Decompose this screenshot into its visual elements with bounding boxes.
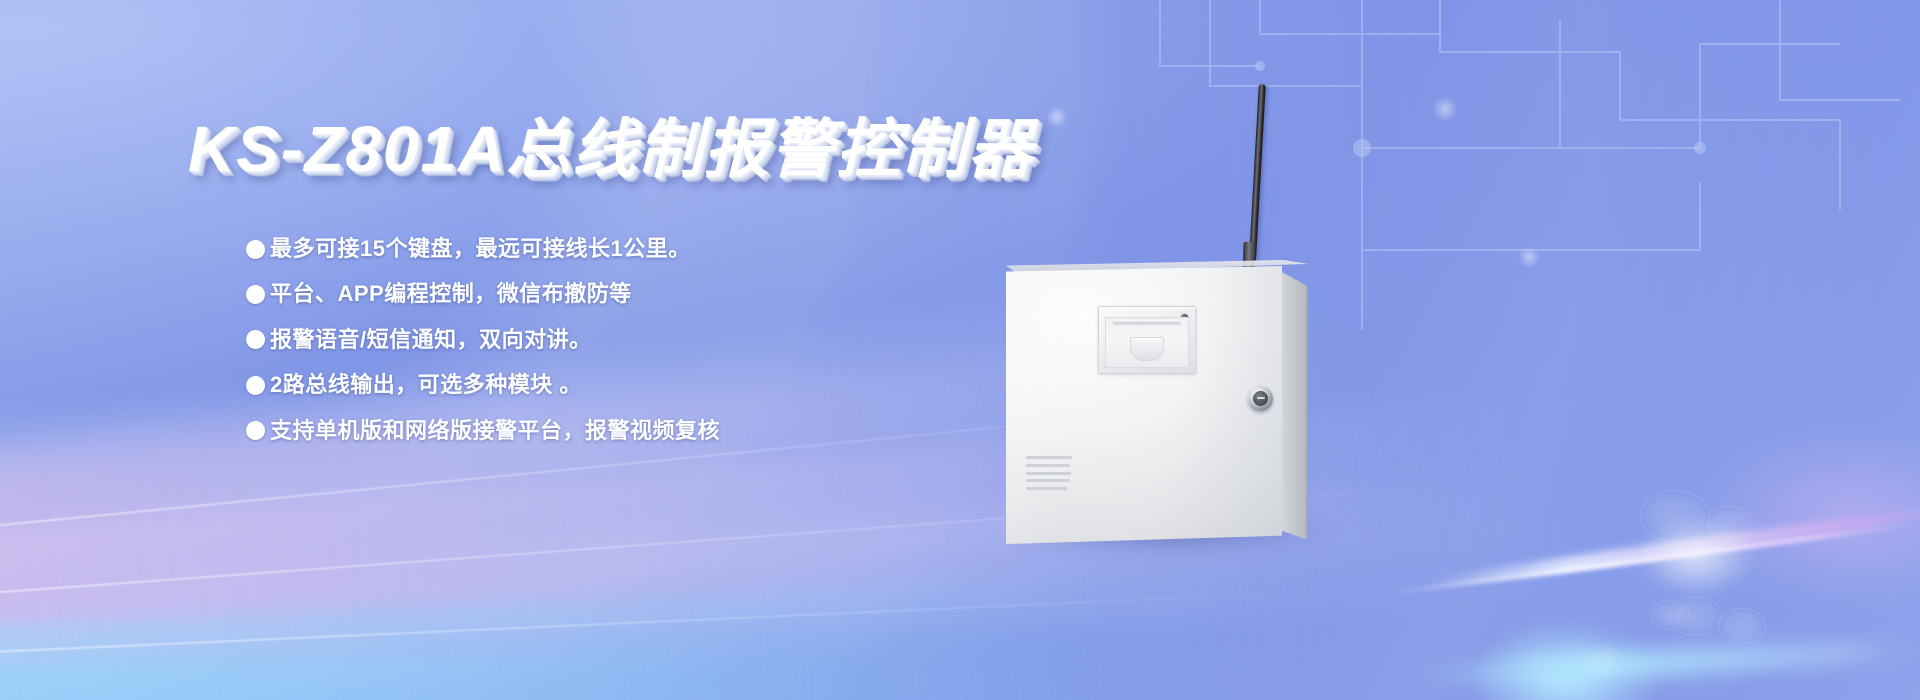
feature-item: 平台、APP编程控制，微信布撤防等	[246, 281, 1006, 307]
feature-list: 最多可接15个键盘，最远可接线长1公里。 平台、APP编程控制，微信布撤防等 报…	[246, 236, 1006, 463]
bullet-dot-icon	[246, 330, 265, 349]
feature-text: 支持单机版和网络版接警平台，报警视频复核	[270, 418, 720, 444]
flare-glow-violet	[1690, 420, 1920, 610]
background-ribbon-6	[0, 639, 1101, 700]
background-glow-dot-1	[1432, 96, 1458, 122]
keypad-bezel	[1098, 306, 1196, 374]
feature-text: 2路总线输出，可选多种模块 。	[270, 372, 582, 398]
bokeh-circle-6	[1578, 646, 1622, 678]
flare-glow-white	[1636, 516, 1756, 596]
background-ribbon-5	[0, 569, 1342, 700]
bullet-dot-icon	[246, 421, 265, 440]
feature-item: 2路总线输出，可选多种模块 。	[246, 372, 1006, 398]
bokeh-circle-4	[1718, 608, 1766, 644]
page-title: KS-Z801A总线制报警控制器	[188, 117, 1034, 181]
background-hairline-3	[0, 588, 1379, 658]
vent-slot	[1026, 456, 1072, 459]
bullet-dot-icon	[246, 285, 265, 304]
vent-slot	[1026, 487, 1067, 490]
vent-slot	[1026, 472, 1071, 475]
feature-text: 最多可接15个键盘，最远可接线长1公里。	[270, 236, 691, 262]
feature-item: 最多可接15个键盘，最远可接线长1公里。	[246, 236, 1006, 262]
feature-text: 平台、APP编程控制，微信布撤防等	[270, 281, 632, 307]
bullet-dot-icon	[246, 240, 265, 259]
key-lock-icon	[1248, 386, 1273, 411]
product-image	[990, 84, 1410, 584]
bokeh-circle-3	[1668, 596, 1722, 636]
background-glow-dot-3	[1518, 246, 1540, 268]
product-banner: KS-Z801A总线制报警控制器 最多可接15个键盘，最远可接线长1公里。 平台…	[0, 0, 1920, 700]
ventilation-louvres	[1026, 456, 1072, 490]
feature-text: 报警语音/短信通知，双向对讲。	[270, 327, 592, 353]
keypad-pull-tab	[1130, 337, 1164, 361]
vent-slot	[1026, 479, 1070, 482]
light-streak-lower	[1400, 636, 1920, 689]
light-streak-thin	[1382, 521, 1918, 596]
light-streak-upper	[1422, 499, 1920, 591]
enclosure-side-face	[1278, 270, 1308, 540]
key-lock-slot	[1257, 397, 1265, 399]
feature-item: 支持单机版和网络版接警平台，报警视频复核	[246, 418, 1006, 444]
feature-item: 报警语音/短信通知，双向对讲。	[246, 327, 1006, 353]
bokeh-circle-2	[1700, 506, 1758, 550]
flare-glow-cyan	[1470, 620, 1660, 700]
bullet-dot-icon	[246, 376, 265, 395]
keypad-slot	[1113, 322, 1181, 326]
bokeh-circle-1	[1640, 490, 1710, 542]
antenna-icon	[1249, 84, 1266, 260]
keypad-bezel-inner	[1105, 317, 1189, 368]
bokeh-circle-5	[1650, 600, 1690, 630]
vent-slot	[1026, 464, 1070, 467]
